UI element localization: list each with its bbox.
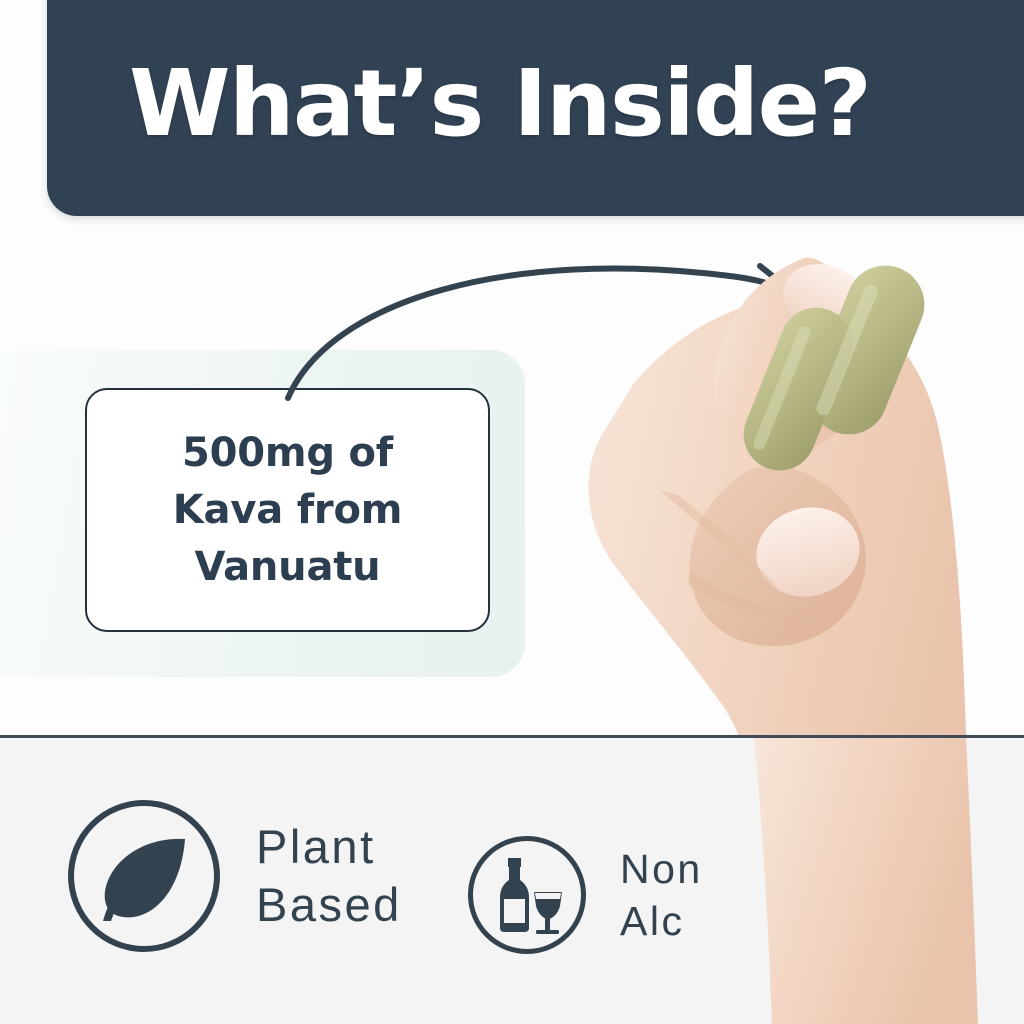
- ingredient-callout-box: 500mg of Kava from Vanuatu: [85, 388, 490, 632]
- bottle-and-glass-icon: [484, 852, 570, 938]
- non-alc-label: Non Alc: [620, 843, 703, 947]
- badge-non-alc: Non Alc: [468, 836, 703, 954]
- non-alc-line-1: Non: [620, 843, 703, 895]
- plant-based-line-2: Based: [256, 876, 402, 934]
- plant-based-label: Plant Based: [256, 818, 402, 934]
- plant-based-ring: [68, 800, 220, 952]
- callout-line-3: Vanuatu: [195, 539, 381, 596]
- page-title: What’s Inside?: [129, 54, 1024, 154]
- non-alc-line-2: Alc: [620, 895, 703, 947]
- plant-based-line-1: Plant: [256, 818, 402, 876]
- callout-line-1: 500mg of: [182, 425, 393, 482]
- header-banner: What’s Inside?: [47, 0, 1024, 216]
- badge-plant-based: Plant Based: [68, 800, 402, 952]
- callout-line-2: Kava from: [173, 482, 402, 539]
- infographic-canvas: What’s Inside? 500mg of Kava from Vanuat…: [0, 0, 1024, 1024]
- non-alc-ring: [468, 836, 586, 954]
- leaf-icon: [89, 821, 199, 931]
